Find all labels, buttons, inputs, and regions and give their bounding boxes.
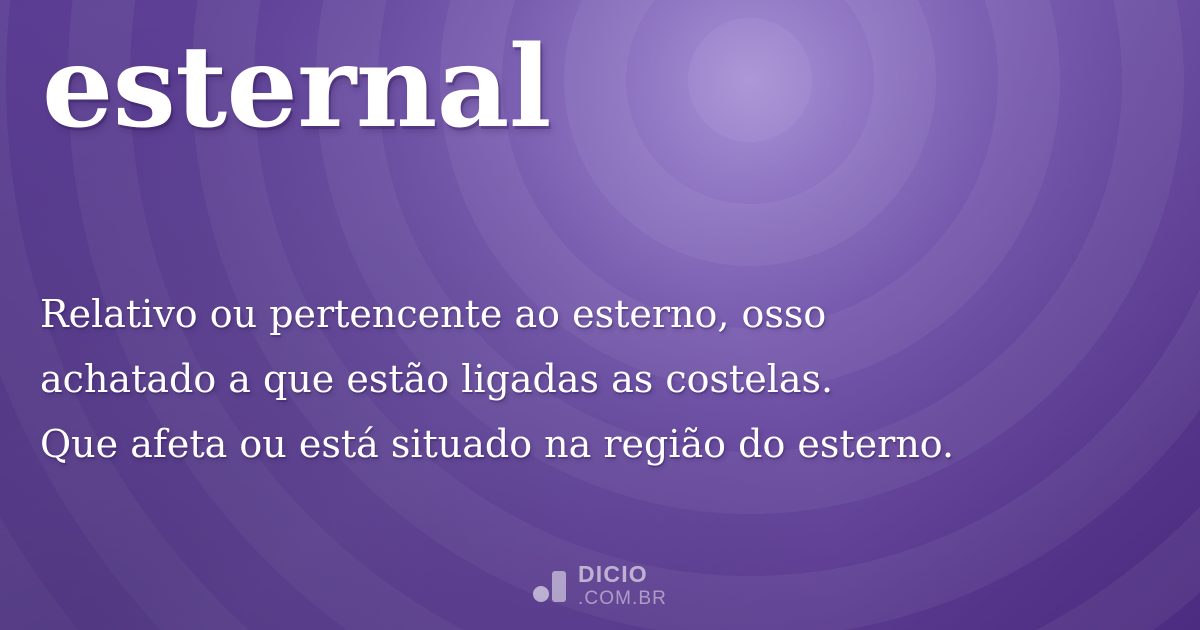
circle-mark-icon xyxy=(533,586,549,602)
dicio-logo[interactable]: DICIO .COM.BR xyxy=(0,563,1200,608)
rounded-bar-mark-icon xyxy=(552,571,566,602)
definition-line: Que afeta ou está situado na região do e… xyxy=(40,412,1170,477)
logo-name: DICIO xyxy=(578,563,667,586)
card-content: esternal Relativo ou pertencente ao este… xyxy=(0,0,1200,630)
definition-line: achatado a que estão ligadas as costelas… xyxy=(40,347,1170,412)
definition-line: Relativo ou pertencente ao esterno, osso xyxy=(40,282,1170,347)
logo-tld: .COM.BR xyxy=(578,589,667,608)
dicio-definition-card: esternal Relativo ou pertencente ao este… xyxy=(0,0,1200,630)
logo-text: DICIO .COM.BR xyxy=(578,563,667,608)
page-title: esternal xyxy=(42,32,551,144)
definition-block: Relativo ou pertencente ao esterno, osso… xyxy=(40,282,1170,477)
logo-mark xyxy=(533,569,567,603)
